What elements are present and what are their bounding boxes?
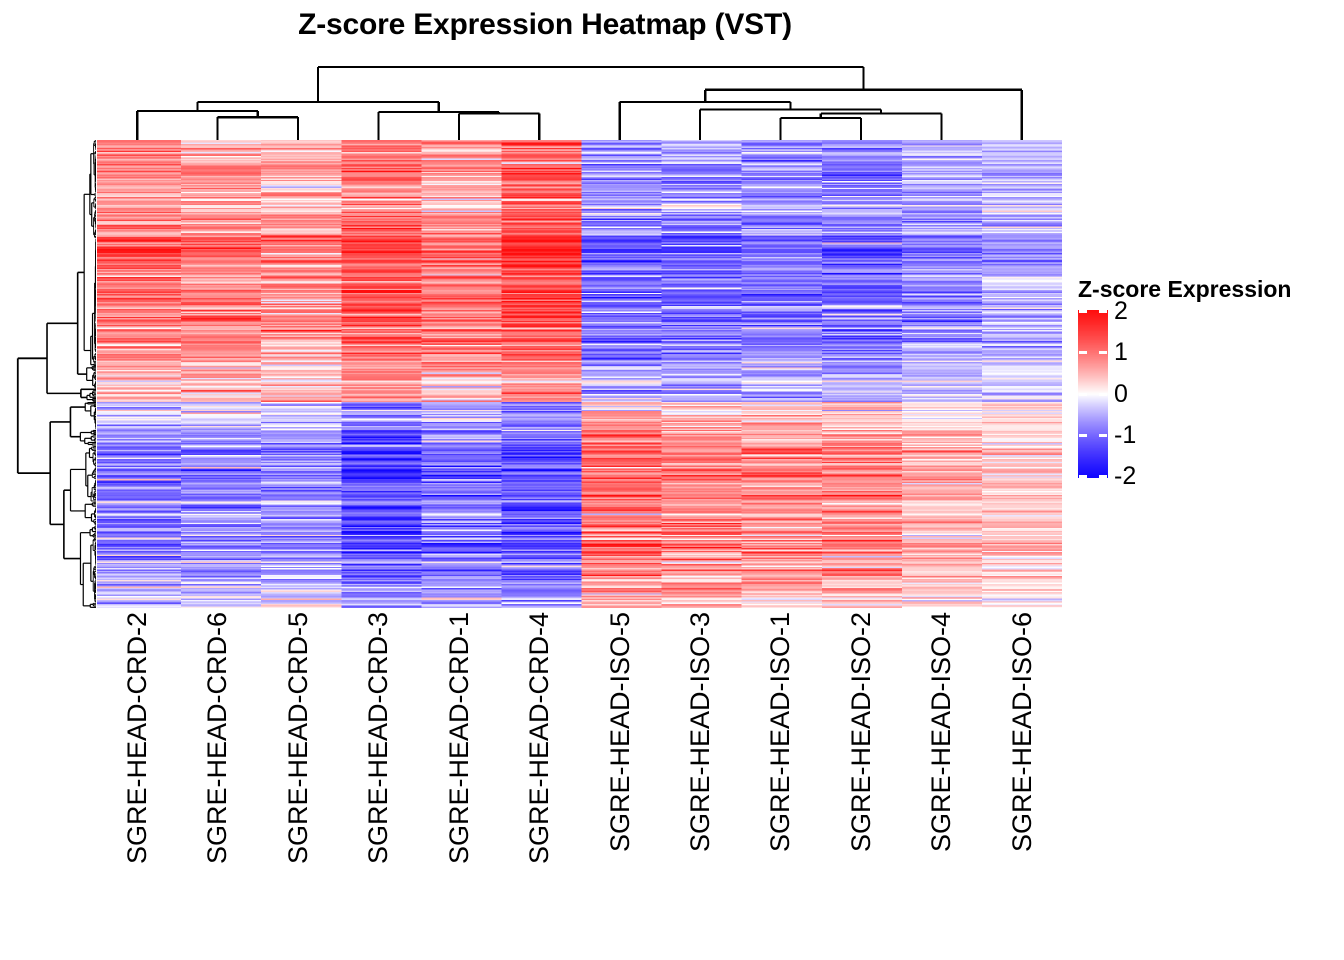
- legend-tick-mark: [1079, 393, 1087, 396]
- column-label-axis: SGRE-HEAD-CRD-2SGRE-HEAD-CRD-6SGRE-HEAD-…: [97, 612, 1062, 932]
- legend-tick-mark: [1079, 475, 1087, 478]
- column-label: SGRE-HEAD-ISO-6: [982, 612, 1062, 922]
- column-dendrogram: [97, 62, 1062, 140]
- legend-tick-mark: [1099, 310, 1107, 313]
- column-label: SGRE-HEAD-ISO-2: [821, 612, 901, 922]
- legend-tick-label: 1: [1114, 340, 1128, 365]
- column-label: SGRE-HEAD-ISO-4: [901, 612, 981, 922]
- column-label: SGRE-HEAD-CRD-2: [97, 612, 177, 922]
- legend-tick-mark: [1099, 434, 1107, 437]
- legend-tick-label: 0: [1114, 382, 1128, 407]
- column-label: SGRE-HEAD-ISO-3: [660, 612, 740, 922]
- legend-tick-label: -1: [1114, 423, 1136, 448]
- column-label: SGRE-HEAD-ISO-1: [740, 612, 820, 922]
- legend-title: Z-score Expression: [1078, 276, 1291, 303]
- column-label: SGRE-HEAD-CRD-6: [177, 612, 257, 922]
- column-label: SGRE-HEAD-ISO-5: [580, 612, 660, 922]
- column-label: SGRE-HEAD-CRD-3: [338, 612, 418, 922]
- column-label: SGRE-HEAD-CRD-4: [499, 612, 579, 922]
- row-dendrogram: [16, 140, 96, 608]
- page-title: Z-score Expression Heatmap (VST): [0, 8, 1090, 42]
- legend-tick-mark: [1079, 310, 1087, 313]
- legend-tick-label: 2: [1114, 299, 1128, 324]
- legend-tick-mark: [1099, 351, 1107, 354]
- legend-tick-label: -2: [1114, 464, 1136, 489]
- legend-tick-mark: [1079, 434, 1087, 437]
- heatmap-body[interactable]: [97, 140, 1062, 608]
- legend-tick-mark: [1099, 475, 1107, 478]
- legend-tick-mark: [1079, 351, 1087, 354]
- legend-tick-mark: [1099, 393, 1107, 396]
- column-label: SGRE-HEAD-CRD-5: [258, 612, 338, 922]
- heatmap-figure: Z-score Expression Heatmap (VST) SGRE-HE…: [0, 0, 1344, 960]
- column-label: SGRE-HEAD-CRD-1: [419, 612, 499, 922]
- legend: Z-score Expression 210-1-2: [1074, 276, 1336, 491]
- heatmap-cells[interactable]: [97, 140, 1062, 608]
- legend-colorbar[interactable]: [1078, 310, 1108, 478]
